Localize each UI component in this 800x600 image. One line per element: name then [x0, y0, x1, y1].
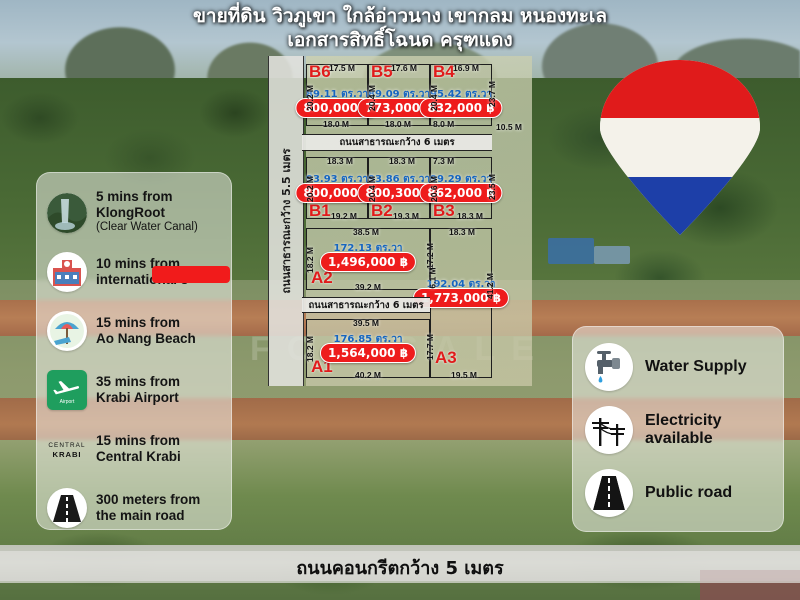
utility-road-label: Public road — [645, 484, 732, 502]
info-item-main-road[interactable]: 300 meters from the main road — [45, 478, 223, 537]
horizontal-public-road-1: ถนนสาธารณะกว้าง 6 เมตร — [302, 134, 492, 151]
info-beach-line1: 15 mins from — [96, 315, 196, 331]
plot-a1-dim-right: 17.7 M — [425, 334, 435, 360]
secondary-house — [594, 246, 630, 264]
plot-b4-id: B4 — [433, 63, 455, 80]
bottom-road-banner: ถนนคอนกรีตกว้าง 5 เมตร — [0, 551, 800, 583]
utility-water-label: Water Supply — [645, 358, 747, 376]
plot-b6-dim-left: 20.2 M — [305, 85, 315, 111]
plot-a1-dim-bottom: 40.2 M — [355, 370, 381, 380]
plot-a2-price: 1,496,000 ฿ — [320, 252, 416, 272]
utility-item-water[interactable]: Water Supply — [581, 335, 775, 398]
info-central-line1: 15 mins from — [96, 433, 181, 449]
info-item-beach-text: 15 mins from Ao Nang Beach — [96, 315, 196, 346]
plot-a2-dim-left: 18.2 M — [305, 247, 315, 273]
plot-b4-dim-right: 23.7 M — [487, 81, 497, 107]
plot-b3-dim-top: 7.3 M — [433, 156, 454, 166]
info-klongroot-line2: KlongRoot — [96, 205, 198, 221]
info-item-central-krabi[interactable]: CENTRAL KRABI 15 mins from Central Krabi — [45, 419, 223, 478]
plot-b5-dim-bottom: 18.0 M — [385, 119, 411, 129]
plot-b6-dim-top: 17.5 M — [329, 63, 355, 73]
plot-a3[interactable]: A3 192.04 ตร.วา 1,773,000 ฿ 18.3 M 6.1 M… — [430, 228, 492, 378]
utilities-card: Water Supply Electricity available — [572, 326, 784, 532]
plot-a2-dim-top: 38.5 M — [353, 227, 379, 237]
school-building-icon — [47, 252, 87, 292]
info-item-klongroot[interactable]: 5 mins from KlongRoot (Clear Water Canal… — [45, 183, 223, 242]
plot-b6-id: B6 — [309, 63, 331, 80]
plot-b2-dim-bottom: 19.3 M — [393, 211, 419, 221]
utility-item-electricity[interactable]: Electricity available — [581, 398, 775, 461]
plot-b1-dim-top: 18.3 M — [327, 156, 353, 166]
map-pin-shape — [600, 60, 760, 235]
plot-b6-dim-bottom: 18.0 M — [323, 119, 349, 129]
plot-b1-dim-bottom: 19.2 M — [331, 211, 357, 221]
flag-band-top — [600, 60, 760, 118]
bottom-banner-label: ถนนคอนกรีตกว้าง 5 เมตร — [296, 553, 503, 582]
road-icon — [47, 488, 87, 528]
plot-b3-dim-right: 23.5 M — [487, 174, 497, 200]
plot-b6[interactable]: B6 89.11 ตร.วา 800,000 ฿ 17.5 M 20.2 M 1… — [306, 64, 368, 126]
screenshot-root: FOR SALE ขายที่ดิน วิวภูเขา ใกล้อ่าวนาง … — [0, 0, 800, 600]
svg-text:CENTRAL: CENTRAL — [48, 442, 85, 449]
redaction-bar — [152, 266, 230, 283]
plot-b1-id: B1 — [309, 202, 331, 219]
plot-b2-dim-top: 18.3 M — [389, 156, 415, 166]
airplane-icon: Airport — [47, 370, 87, 410]
central-krabi-logo-icon: CENTRAL KRABI — [47, 429, 87, 469]
plot-b1-dim-left: 20.2 M — [305, 176, 315, 202]
vertical-road-label: ถนนสาธารณะกว้าง 5.5 เมตร — [277, 148, 295, 293]
info-item-ao-nang-beach[interactable]: 15 mins from Ao Nang Beach — [45, 301, 223, 360]
plot-b3-dim-left: 20.6 M — [429, 176, 439, 202]
map-dim-b4-offset: 10.5 M — [496, 122, 522, 132]
title-line-1: ขายที่ดิน วิวภูเขา ใกล้อ่าวนาง เขากลม หน… — [0, 4, 800, 28]
info-road-line1: 300 meters from — [96, 492, 200, 508]
info-item-road-text: 300 meters from the main road — [96, 492, 200, 523]
beach-umbrella-icon — [47, 311, 87, 351]
horizontal-road-1-label: ถนนสาธารณะกว้าง 6 เมตร — [339, 135, 454, 150]
plot-b3-id: B3 — [433, 202, 455, 219]
info-item-krabi-airport[interactable]: Airport 35 mins from Krabi Airport — [45, 360, 223, 419]
power-line-icon — [585, 406, 633, 454]
svg-text:Airport: Airport — [60, 399, 75, 405]
info-item-airport-text: 35 mins from Krabi Airport — [96, 374, 180, 405]
plot-a3-dim-left: 6.1 M — [428, 267, 438, 288]
info-airport-line1: 35 mins from — [96, 374, 180, 390]
page-title: ขายที่ดิน วิวภูเขา ใกล้อ่าวนาง เขากลม หน… — [0, 4, 800, 52]
waterfall-icon — [47, 193, 87, 233]
plot-a2-dim-bottom: 39.2 M — [355, 282, 381, 292]
plot-b4-dim-bottom: 8.0 M — [433, 119, 454, 129]
plot-subdivision-map: ถนนสาธารณะกว้าง 5.5 เมตร B6 89.11 ตร.วา … — [268, 56, 532, 386]
info-airport-line2: Krabi Airport — [96, 390, 180, 406]
plot-b4[interactable]: B4 95.42 ตร.วา 832,000 ฿ 16.9 M 20.4 M 2… — [430, 64, 492, 126]
utility-item-public-road[interactable]: Public road — [581, 461, 775, 524]
plot-b4-dim-top: 16.9 M — [453, 63, 479, 73]
info-klongroot-line3: (Clear Water Canal) — [96, 220, 198, 236]
info-klongroot-line1: 5 mins from — [96, 189, 198, 205]
flag-band-middle — [600, 118, 760, 176]
plot-b5-dim-top: 17.6 M — [391, 63, 417, 73]
plot-a3-id: A3 — [435, 349, 457, 366]
title-line-2: เอกสารสิทธิ์โฉนด ครุฑแดง — [0, 28, 800, 52]
plot-b2-dim-left: 20.4 M — [367, 176, 377, 202]
blue-roof-house — [548, 238, 594, 264]
plot-a3-dim-top: 18.3 M — [449, 227, 475, 237]
road-icon — [585, 469, 633, 517]
plot-a3-dim-right: 41.2 M — [485, 273, 495, 299]
info-road-line2: the main road — [96, 508, 200, 524]
plot-a1-dim-left: 18.2 M — [305, 336, 315, 362]
plot-b4-dim-left: 20.4 M — [429, 85, 439, 111]
info-item-klongroot-text: 5 mins from KlongRoot (Clear Water Canal… — [96, 189, 198, 236]
horizontal-public-road-2: ถนนสาธารณะกว้าง 6 เมตร — [302, 297, 430, 313]
svg-text:KRABI: KRABI — [53, 450, 82, 459]
info-central-line2: Central Krabi — [96, 449, 181, 465]
info-beach-line2: Ao Nang Beach — [96, 331, 196, 347]
flag-band-bottom — [600, 177, 760, 235]
plot-a1-dim-top: 39.5 M — [353, 318, 379, 328]
plot-a1-price: 1,564,000 ฿ — [320, 343, 416, 363]
plot-b5-id: B5 — [371, 63, 393, 80]
plot-b3[interactable]: B3 99.29 ตร.วา 862,000 ฿ 7.3 M 20.6 M 23… — [430, 157, 492, 219]
horizontal-road-2-label: ถนนสาธารณะกว้าง 6 เมตร — [308, 298, 423, 313]
plot-a1[interactable]: A1 176.85 ตร.วา 1,564,000 ฿ 39.5 M 18.2 … — [306, 319, 430, 378]
plot-a3-dim-bottom: 19.5 M — [451, 370, 477, 380]
faucet-water-icon — [585, 343, 633, 391]
plot-b5-dim-left: 20.4 M — [367, 85, 377, 111]
plot-b5[interactable]: B5 89.09 ตร.วา 773,000 ฿ 17.6 M 20.4 M 1… — [368, 64, 430, 126]
info-card: 5 mins from KlongRoot (Clear Water Canal… — [36, 172, 232, 530]
plot-b2-id: B2 — [371, 202, 393, 219]
utility-electricity-label: Electricity available — [645, 412, 775, 448]
plot-b3-dim-bottom: 18.3 M — [457, 211, 483, 221]
map-pin-flag — [600, 60, 760, 235]
info-item-central-text: 15 mins from Central Krabi — [96, 433, 181, 464]
plot-a2[interactable]: A2 172.13 ตร.วา 1,496,000 ฿ 38.5 M 18.2 … — [306, 228, 430, 290]
